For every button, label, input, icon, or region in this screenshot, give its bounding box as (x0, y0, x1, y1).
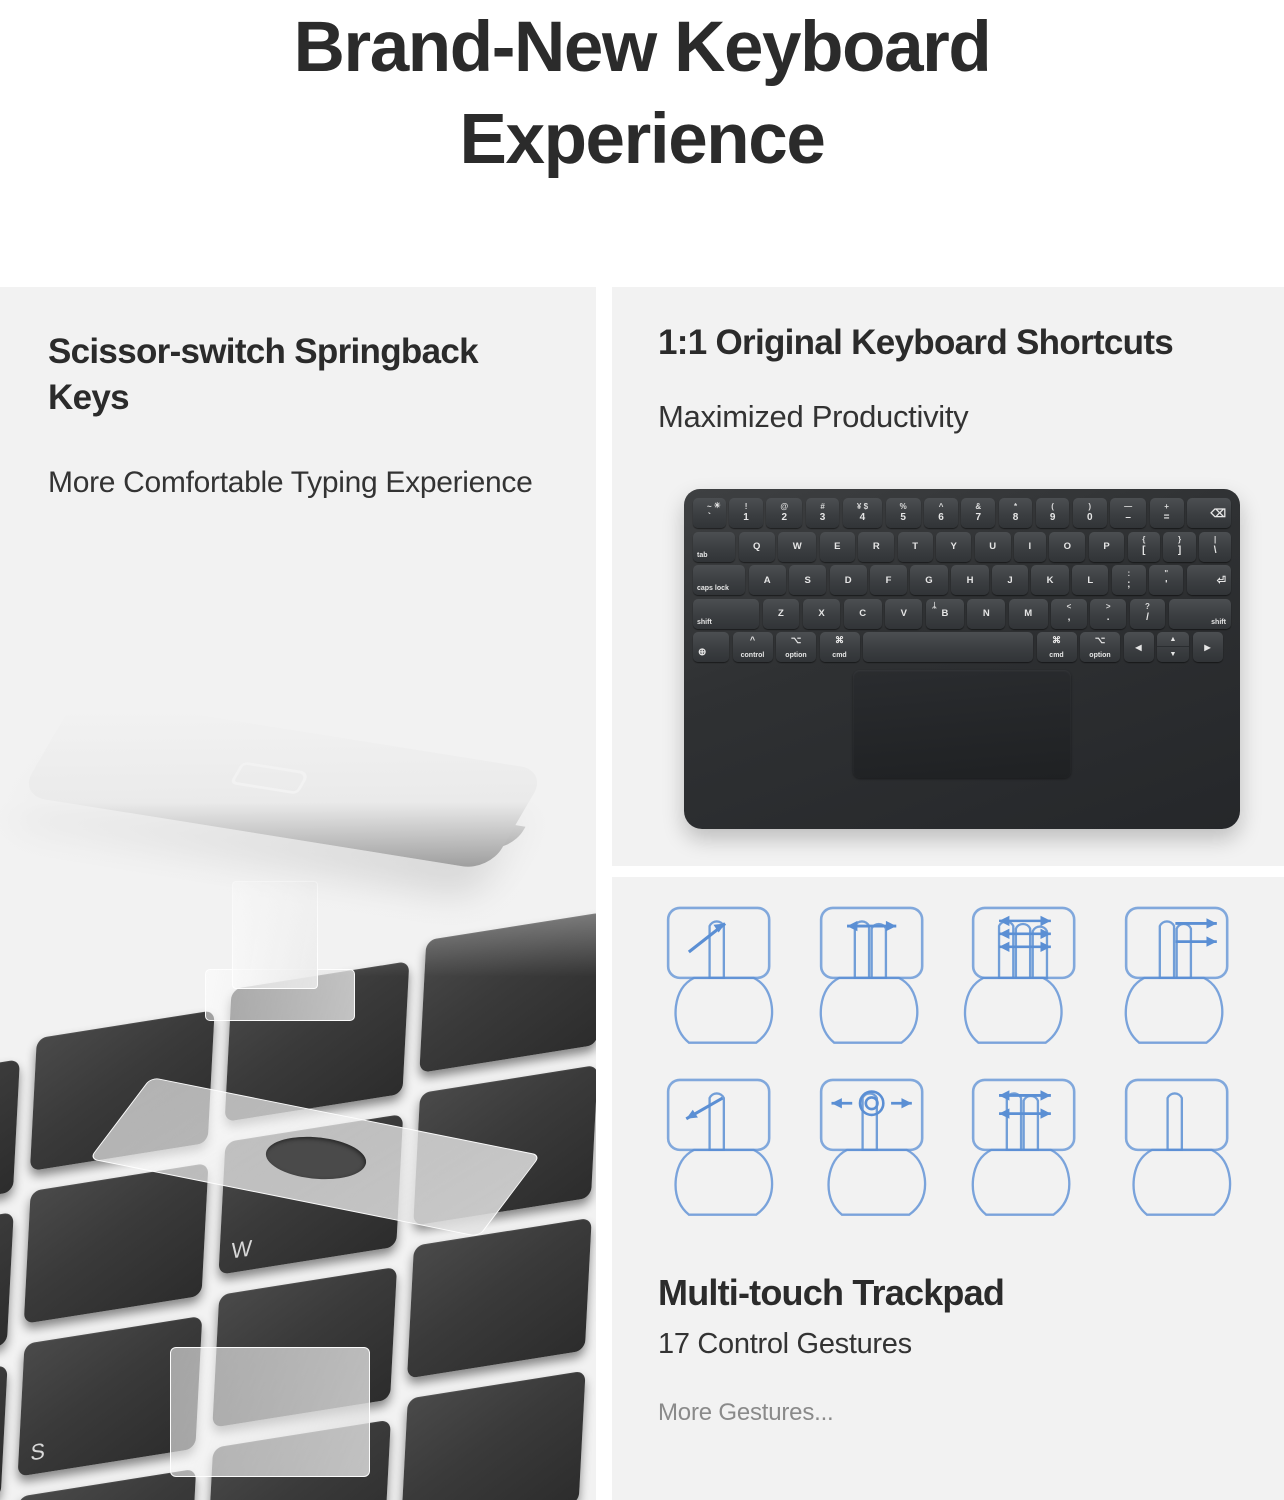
left-panel-title: Scissor-switch Springback Keys (48, 329, 550, 420)
key-i[interactable]: I (1014, 532, 1046, 562)
shift-row: shiftZXCVBᛦNM<,>.?/shift (693, 599, 1231, 629)
bg-key (407, 1218, 592, 1379)
key-0[interactable]: )0 (1073, 498, 1107, 528)
key-8[interactable]: *8 (999, 498, 1033, 528)
page-header: Brand-New Keyboard Experience (0, 0, 1284, 270)
key-tilde-backtick[interactable]: ~`☀ (693, 498, 726, 528)
key-equals[interactable]: += (1150, 498, 1184, 528)
product-feature-page: Brand-New Keyboard Experience Scissor-sw… (0, 0, 1284, 1500)
key-r[interactable]: R (858, 532, 894, 562)
key-slash[interactable]: ?/ (1130, 599, 1166, 629)
gesture-one-finger-tap (1108, 1067, 1251, 1225)
gesture-two-finger-pinch (803, 895, 946, 1053)
gesture-three-finger-swipe-lr (955, 895, 1098, 1053)
key-caps-lock[interactable]: caps lock (693, 565, 745, 595)
key-j[interactable]: J (992, 565, 1028, 595)
key-command-left[interactable]: ⌘cmd (820, 632, 860, 662)
key-shift-left[interactable]: shift (693, 599, 759, 629)
key-quote[interactable]: "' (1149, 565, 1183, 595)
key-control[interactable]: ^control (733, 632, 773, 662)
page-title: Brand-New Keyboard Experience (142, 2, 1142, 187)
panel-keyboard-shortcuts: 1:1 Original Keyboard Shortcuts Maximize… (612, 287, 1284, 866)
bg-key (401, 1371, 586, 1500)
gesture-two-finger-swipe-right (1108, 895, 1251, 1053)
key-q[interactable]: Q (739, 532, 775, 562)
key-e[interactable]: E (820, 532, 855, 562)
left-panel-subtitle: More Comfortable Typing Experience (48, 462, 550, 503)
left-panel-header: Scissor-switch Springback Keys More Comf… (0, 287, 596, 503)
key-x[interactable]: X (803, 599, 840, 629)
bottom-right-panel-subtitle: 17 Control Gestures (658, 1328, 1258, 1361)
key-backspace[interactable]: ⌫ (1187, 498, 1231, 528)
key-z[interactable]: Z (763, 599, 800, 629)
bg-key (11, 1469, 196, 1500)
key-h[interactable]: H (951, 565, 988, 595)
bg-key (0, 1365, 8, 1500)
key-arrow-up-down[interactable]: ▲▼ (1157, 632, 1189, 662)
key-arrow-left[interactable]: ◀ (1124, 632, 1154, 662)
key-y[interactable]: Y (936, 532, 971, 562)
key-bracket-right[interactable]: }] (1163, 532, 1195, 562)
top-right-panel-title: 1:1 Original Keyboard Shortcuts (658, 320, 1244, 366)
key-9[interactable]: (9 (1036, 498, 1070, 528)
key-comma[interactable]: <, (1051, 599, 1087, 629)
key-3[interactable]: #3 (806, 498, 840, 528)
panel-multitouch-trackpad: Multi-touch Trackpad 17 Control Gestures… (612, 877, 1284, 1500)
more-gestures-label: More Gestures... (658, 1399, 1258, 1427)
floating-keycap (40, 707, 570, 907)
key-period[interactable]: >. (1090, 599, 1126, 629)
panel-scissor-switch: Scissor-switch Springback Keys More Comf… (0, 287, 596, 1500)
bottom-right-panel-header: Multi-touch Trackpad 17 Control Gestures… (658, 1272, 1258, 1427)
key-command-right[interactable]: ⌘cmd (1037, 632, 1077, 662)
key-7[interactable]: &7 (961, 498, 995, 528)
key-option-right[interactable]: ⌥option (1080, 632, 1120, 662)
key-c[interactable]: C (844, 599, 882, 629)
brightness-icon: ☀ (714, 501, 721, 510)
key-tab[interactable]: tab (693, 532, 735, 562)
key-s[interactable]: S (789, 565, 826, 595)
key-option-left[interactable]: ⌥option (776, 632, 816, 662)
key-bracket-left[interactable]: {[ (1128, 532, 1160, 562)
key-u[interactable]: U (975, 532, 1011, 562)
key-semicolon[interactable]: :; (1112, 565, 1146, 595)
key-arrow-right[interactable]: ▶ (1193, 632, 1223, 662)
key-o[interactable]: O (1049, 532, 1085, 562)
top-right-panel-subtitle: Maximized Productivity (658, 396, 1244, 439)
key-5[interactable]: %5 (886, 498, 921, 528)
key-d[interactable]: D (830, 565, 867, 595)
key-v[interactable]: V (885, 599, 922, 629)
switch-housing (170, 1347, 370, 1477)
key-g[interactable]: G (910, 565, 948, 595)
gesture-one-finger-tap-drag (803, 1067, 946, 1225)
bg-key (419, 912, 596, 1073)
key-2[interactable]: @2 (766, 498, 802, 528)
bg-key (0, 1212, 14, 1373)
bg-key (24, 1163, 209, 1324)
key-globe[interactable]: ⊕ (693, 632, 729, 662)
gesture-one-finger-swipe-up (650, 895, 793, 1053)
key-a[interactable]: A (749, 565, 786, 595)
number-row: ~`☀!1@2#3¥ $4%5^6&7*8(9)0—–+=⌫ (693, 498, 1231, 528)
keyboard-palm-rest (693, 668, 1231, 786)
key-w[interactable]: W (778, 532, 816, 562)
key-space[interactable] (863, 632, 1033, 662)
gesture-one-finger-swipe-diagonal (650, 1067, 793, 1225)
bg-key: tab (0, 1059, 20, 1220)
key-n[interactable]: N (967, 599, 1005, 629)
key-backslash[interactable]: |\ (1199, 532, 1231, 562)
key-p[interactable]: P (1089, 532, 1124, 562)
top-right-panel-header: 1:1 Original Keyboard Shortcuts Maximize… (612, 287, 1284, 438)
key-return[interactable]: ⏎ (1187, 565, 1231, 595)
qwerty-row: tabQWERTYUIOP{[}]|\ (693, 532, 1231, 562)
gesture-grid (650, 895, 1250, 1225)
gesture-two-finger-scroll (955, 1067, 1098, 1225)
key-b[interactable]: Bᛦ (926, 599, 964, 629)
bluetooth-icon: ᛦ (932, 601, 937, 610)
key-m[interactable]: M (1009, 599, 1048, 629)
key-f[interactable]: F (870, 565, 906, 595)
key-minus[interactable]: —– (1110, 498, 1146, 528)
key-6[interactable]: ^6 (924, 498, 958, 528)
key-4[interactable]: ¥ $4 (843, 498, 882, 528)
trackpad[interactable] (853, 670, 1071, 778)
scissor-switch-photo: tab W S (0, 707, 596, 1500)
key-k[interactable]: K (1031, 565, 1068, 595)
key-l[interactable]: L (1072, 565, 1108, 595)
key-1[interactable]: !1 (729, 498, 763, 528)
key-t[interactable]: T (898, 532, 933, 562)
key-shift-right[interactable]: shift (1169, 599, 1231, 629)
keyboard-key-area: ~`☀!1@2#3¥ $4%5^6&7*8(9)0—–+=⌫tabQWERTYU… (693, 498, 1231, 662)
bottom-right-panel-title: Multi-touch Trackpad (658, 1272, 1258, 1314)
bottom-row: ⊕^control⌥option⌘cmd⌘cmd⌥option◀▲▼▶ (693, 632, 1231, 662)
home-row: caps lockASDFGHJKL:;"'⏎ (693, 565, 1231, 595)
keyboard-illustration: ~`☀!1@2#3¥ $4%5^6&7*8(9)0—–+=⌫tabQWERTYU… (684, 489, 1240, 829)
